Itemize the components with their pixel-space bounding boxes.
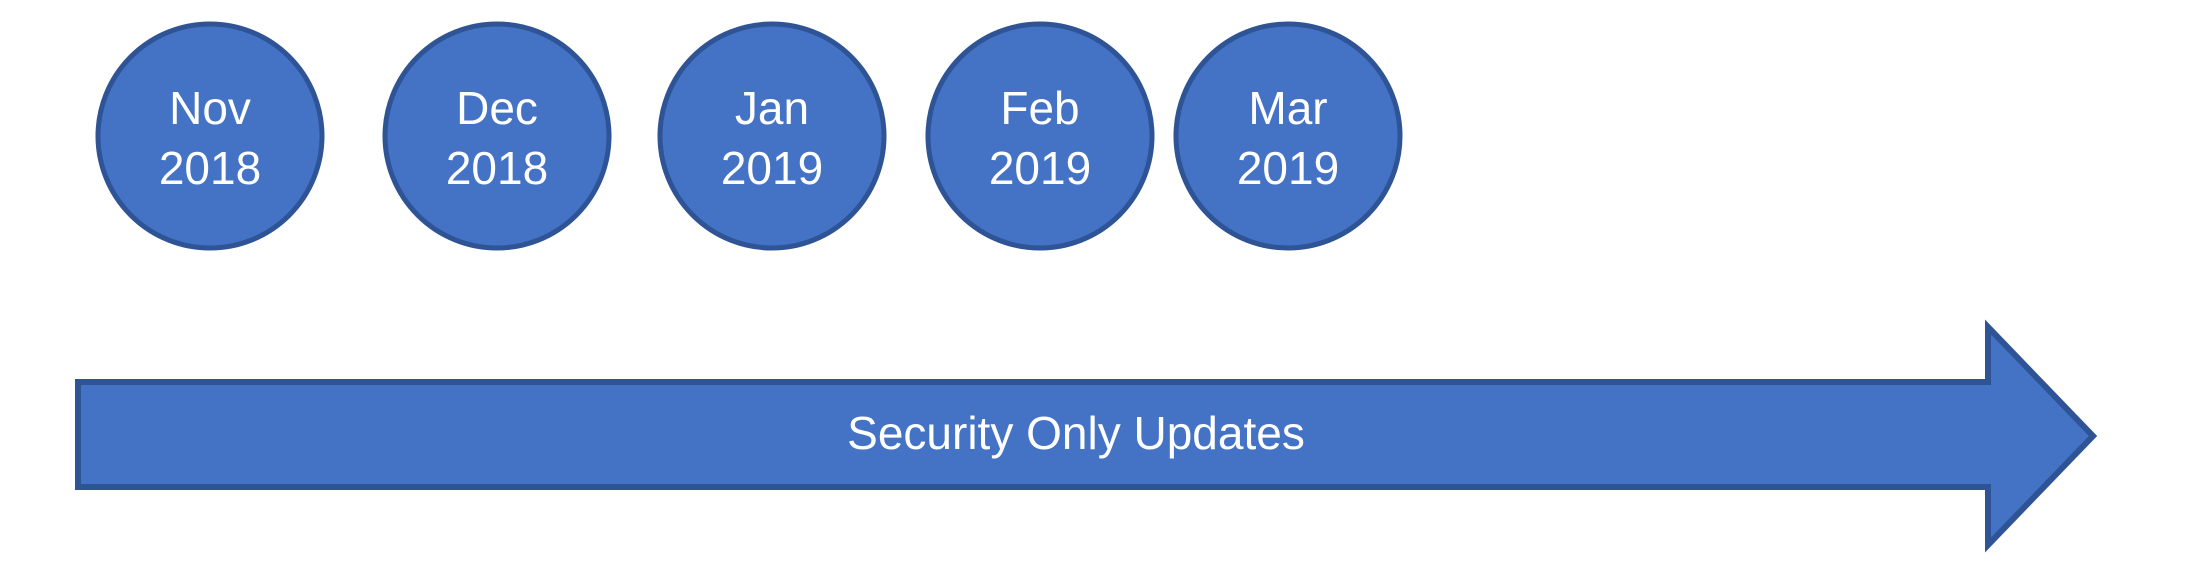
milestone-month-label: Nov [169,82,251,134]
milestone-node-feb-2019[interactable]: Feb 2019 [928,24,1152,248]
milestone-circle[interactable] [98,24,322,248]
milestone-month-label: Dec [456,82,538,134]
milestone-month-label: Feb [1000,82,1079,134]
milestone-month-label: Mar [1248,82,1327,134]
milestone-year-label: 2018 [159,142,261,194]
timeline-canvas: Nov 2018 Dec 2018 Jan 2019 Feb 2019 Mar … [0,0,2198,566]
milestone-node-nov-2018[interactable]: Nov 2018 [98,24,322,248]
arrow-caption-label: Security Only Updates [847,407,1305,459]
milestone-circle[interactable] [928,24,1152,248]
timeline-svg: Nov 2018 Dec 2018 Jan 2019 Feb 2019 Mar … [0,0,2198,566]
milestone-circle[interactable] [1176,24,1400,248]
timeline-arrow[interactable]: Security Only Updates [78,327,2093,545]
milestone-year-label: 2018 [446,142,548,194]
milestone-circle[interactable] [660,24,884,248]
milestone-year-label: 2019 [721,142,823,194]
milestone-node-dec-2018[interactable]: Dec 2018 [385,24,609,248]
milestone-node-jan-2019[interactable]: Jan 2019 [660,24,884,248]
milestone-year-label: 2019 [989,142,1091,194]
milestone-circle[interactable] [385,24,609,248]
milestone-node-mar-2019[interactable]: Mar 2019 [1176,24,1400,248]
milestone-month-label: Jan [735,82,809,134]
milestone-year-label: 2019 [1237,142,1339,194]
